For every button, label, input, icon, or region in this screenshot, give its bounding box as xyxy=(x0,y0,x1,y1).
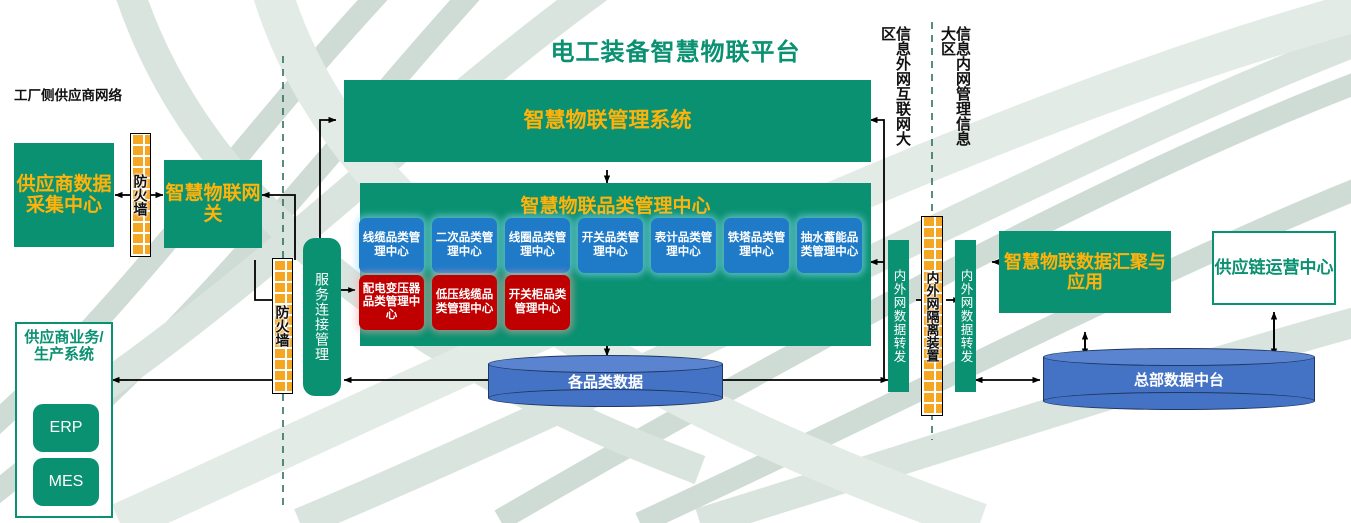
supply-chain-operation-center[interactable]: 供应链运营中心 xyxy=(1212,231,1336,305)
service-connection-management-label: 服务连接管理 xyxy=(312,272,332,362)
hq-data-platform-cylinder[interactable]: 总部数据中台 xyxy=(1043,348,1315,410)
supplier-data-collection-center-label: 供应商数据采集中心 xyxy=(15,174,113,217)
factory-network-label: 工厂侧供应商网络 xyxy=(14,84,122,104)
erp-label: ERP xyxy=(50,419,83,437)
chip-low-voltage-cable-category[interactable]: 低压线缆品类管理中心 xyxy=(432,275,497,330)
firewall-1-label: 防火墙 xyxy=(134,174,148,216)
zone-label-inner-net: 信息内网管理信息大区 xyxy=(940,26,970,146)
chip-switchgear-category[interactable]: 开关柜品类管理中心 xyxy=(505,275,570,330)
supplier-business-system-label: 供应商业务/生产系统 xyxy=(17,324,111,364)
data-forward-left-label: 内外网数据转发 xyxy=(892,269,906,364)
hq-data-platform-label: 总部数据中台 xyxy=(1043,348,1315,410)
chip-cable-category[interactable]: 线缆品类管理中心 xyxy=(359,218,424,273)
chip-switchgear-category-label: 开关柜品类管理中心 xyxy=(507,289,568,315)
data-forward-right-label: 内外网数据转发 xyxy=(959,269,973,364)
category-data-cylinder[interactable]: 各品类数据 xyxy=(488,355,723,407)
firewall-2-label: 防火墙 xyxy=(276,305,290,347)
mes-module[interactable]: MES xyxy=(33,458,99,506)
category-data-cylinder-label: 各品类数据 xyxy=(488,355,723,407)
chip-coil-category[interactable]: 线圈品类管理中心 xyxy=(505,218,570,273)
zone-label-inner-net-text: 信息内网管理信息大区 xyxy=(939,26,971,146)
network-isolation-device: 内外网隔离装置 xyxy=(921,216,943,416)
service-connection-management[interactable]: 服务连接管理 xyxy=(303,238,341,396)
iot-gateway-label: 智慧物联网关 xyxy=(165,183,261,226)
iot-gateway[interactable]: 智慧物联网关 xyxy=(164,160,262,248)
chip-pumped-storage-category-label: 抽水蓄能品类管理中心 xyxy=(799,232,860,258)
chip-tower-category-label: 铁塔品类管理中心 xyxy=(726,232,787,258)
chip-distribution-transformer-category[interactable]: 配电变压器品类管理中心 xyxy=(359,275,424,330)
firewall-1: 防火墙 xyxy=(130,133,151,257)
data-forward-left[interactable]: 内外网数据转发 xyxy=(888,240,909,392)
erp-module[interactable]: ERP xyxy=(33,404,99,452)
iot-data-aggregation-application[interactable]: 智慧物联数据汇聚与应用 xyxy=(999,231,1171,313)
mes-label: MES xyxy=(49,473,84,491)
chip-meter-category[interactable]: 表计品类管理中心 xyxy=(651,218,716,273)
network-isolation-device-label: 内外网隔离装置 xyxy=(926,271,939,362)
chip-low-voltage-cable-category-label: 低压线缆品类管理中心 xyxy=(434,289,495,315)
chip-distribution-transformer-category-label: 配电变压器品类管理中心 xyxy=(361,283,422,323)
iot-data-aggregation-application-label: 智慧物联数据汇聚与应用 xyxy=(1000,252,1170,292)
data-forward-right[interactable]: 内外网数据转发 xyxy=(955,240,976,392)
chip-meter-category-label: 表计品类管理中心 xyxy=(653,232,714,258)
firewall-2: 防火墙 xyxy=(272,258,293,394)
zone-label-outer-net-text: 信息外网互联网大区 xyxy=(879,26,911,146)
chip-secondary-category-label: 二次品类管理中心 xyxy=(434,232,495,258)
supplier-data-collection-center[interactable]: 供应商数据采集中心 xyxy=(14,143,114,247)
chip-cable-category-label: 线缆品类管理中心 xyxy=(361,232,422,258)
iot-category-management-center-label: 智慧物联品类管理中心 xyxy=(360,183,871,218)
chip-secondary-category[interactable]: 二次品类管理中心 xyxy=(432,218,497,273)
iot-management-system[interactable]: 智慧物联管理系统 xyxy=(344,80,871,162)
chip-tower-category[interactable]: 铁塔品类管理中心 xyxy=(724,218,789,273)
chip-coil-category-label: 线圈品类管理中心 xyxy=(507,232,568,258)
chip-switch-category[interactable]: 开关品类管理中心 xyxy=(578,218,643,273)
chip-pumped-storage-category[interactable]: 抽水蓄能品类管理中心 xyxy=(797,218,862,273)
chip-switch-category-label: 开关品类管理中心 xyxy=(580,232,641,258)
zone-label-outer-net: 信息外网互联网大区 xyxy=(880,26,910,146)
supply-chain-operation-center-label: 供应链运营中心 xyxy=(1215,258,1334,277)
iot-management-system-label: 智慧物联管理系统 xyxy=(524,109,692,133)
supplier-business-system[interactable]: 供应商业务/生产系统 ERP MES xyxy=(15,322,113,518)
